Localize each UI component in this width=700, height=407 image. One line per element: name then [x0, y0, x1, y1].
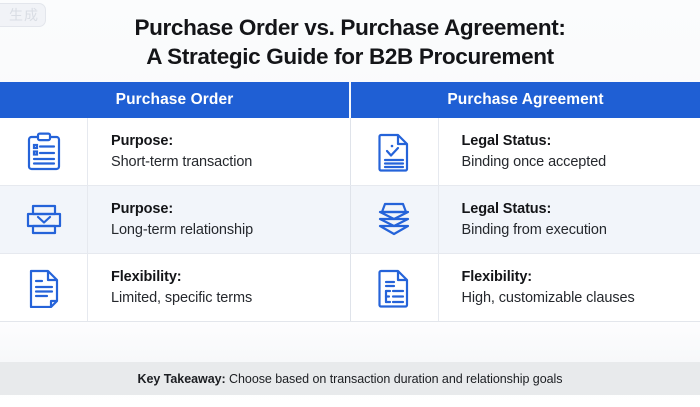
key-takeaway-label: Key Takeaway:: [138, 372, 226, 386]
footer-spacer: [0, 322, 700, 362]
document-check-icon: [351, 118, 439, 185]
column-header-purchase-order: Purchase Order: [0, 82, 351, 118]
cell-label: Flexibility:: [111, 268, 342, 287]
comparison-table-header: Purchase Order Purchase Agreement: [0, 82, 700, 118]
layers-stack-icon: [351, 186, 439, 253]
clipboard-list-icon: [0, 118, 88, 185]
title-line-2: A Strategic Guide for B2B Procurement: [0, 42, 700, 71]
row-left-text: Purpose: Short-term transaction: [88, 118, 350, 185]
layers-stack-icon: [0, 186, 88, 253]
cell-label: Purpose:: [111, 132, 342, 151]
column-header-purchase-agreement: Purchase Agreement: [351, 82, 700, 118]
cell-label: Legal Status:: [462, 200, 693, 219]
document-lines-icon: [0, 254, 88, 321]
row-right-half: Flexibility: High, customizable clauses: [351, 254, 700, 321]
row-right-half: Legal Status: Binding once accepted: [351, 118, 700, 185]
row-right-text: Legal Status: Binding once accepted: [439, 118, 700, 185]
title-line-1: Purchase Order vs. Purchase Agreement:: [0, 13, 700, 42]
cell-label: Purpose:: [111, 200, 342, 219]
row-left-text: Purpose: Long-term relationship: [88, 186, 350, 253]
table-row: Flexibility: Limited, specific terms: [0, 254, 700, 322]
table-row: Purpose: Long-term relationship Legal St…: [0, 186, 700, 254]
cell-label: Legal Status:: [462, 132, 693, 151]
key-takeaway-bar: Key Takeaway: Choose based on transactio…: [0, 362, 700, 395]
cell-value: Short-term transaction: [111, 152, 342, 172]
row-right-half: Legal Status: Binding from execution: [351, 186, 700, 253]
generate-badge: 生成: [0, 3, 46, 27]
row-right-text: Legal Status: Binding from execution: [439, 186, 700, 253]
row-left-half: Purpose: Long-term relationship: [0, 186, 351, 253]
document-clauses-icon: [351, 254, 439, 321]
key-takeaway-body: Choose based on transaction duration and…: [229, 372, 562, 386]
cell-value: Limited, specific terms: [111, 288, 342, 308]
infographic-canvas: 生成 Purchase Order vs. Purchase Agreement…: [0, 0, 700, 407]
row-right-text: Flexibility: High, customizable clauses: [439, 254, 700, 321]
row-left-half: Purpose: Short-term transaction: [0, 118, 351, 185]
cell-label: Flexibility:: [462, 268, 693, 287]
cell-value: Binding from execution: [462, 220, 693, 240]
row-left-half: Flexibility: Limited, specific terms: [0, 254, 351, 321]
page-title: Purchase Order vs. Purchase Agreement: A…: [0, 0, 700, 71]
cell-value: Long-term relationship: [111, 220, 342, 240]
cell-value: High, customizable clauses: [462, 288, 693, 308]
key-takeaway-text: Key Takeaway: Choose based on transactio…: [138, 372, 563, 386]
table-row: Purpose: Short-term transaction: [0, 118, 700, 186]
cell-value: Binding once accepted: [462, 152, 693, 172]
row-left-text: Flexibility: Limited, specific terms: [88, 254, 350, 321]
comparison-table-body: Purpose: Short-term transaction: [0, 118, 700, 322]
